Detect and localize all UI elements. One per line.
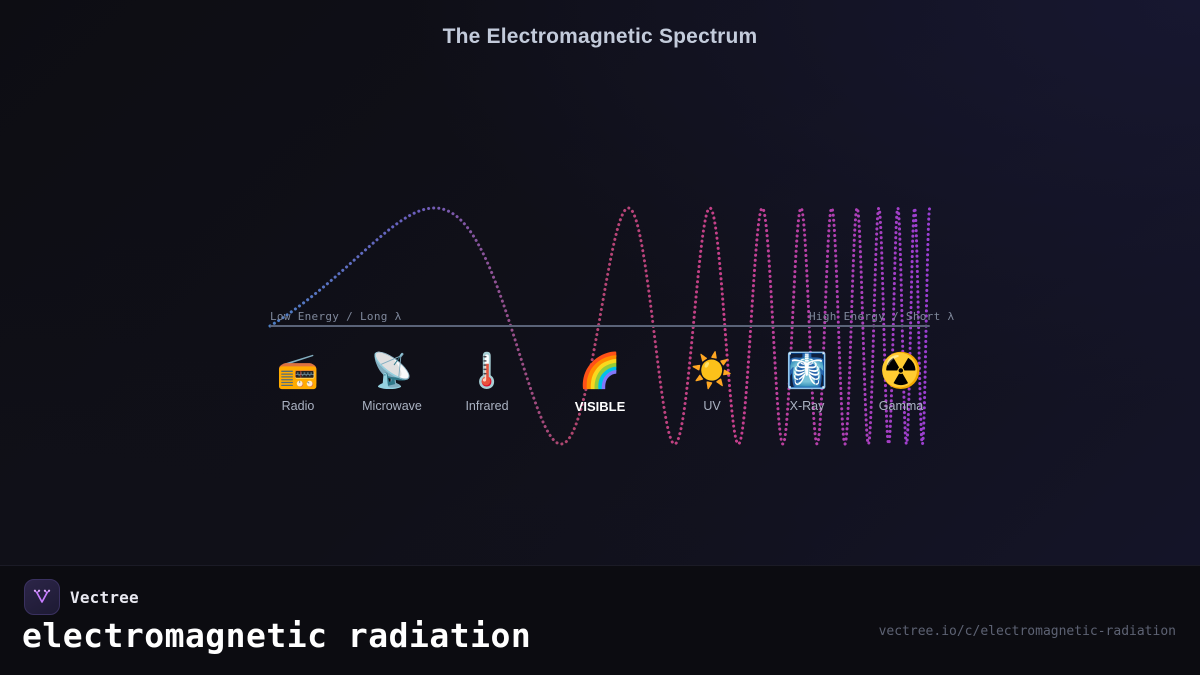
footer-title: electromagnetic radiation	[22, 616, 531, 655]
band-label: Microwave	[337, 399, 447, 413]
band-label: UV	[657, 399, 767, 413]
band-label: VISIBLE	[545, 399, 655, 414]
rainbow-icon: 🌈	[545, 345, 655, 397]
thermometer-icon: 🌡️	[432, 345, 542, 397]
sun-icon: ☀️	[657, 345, 767, 397]
footer-url: vectree.io/c/electromagnetic-radiation	[879, 624, 1176, 639]
band-gamma: ☢️Gamma	[846, 345, 956, 413]
footer-bar: Vectree electromagnetic radiation	[0, 565, 1200, 675]
band-microwave: 📡Microwave	[337, 345, 447, 413]
band-uv: ☀️UV	[657, 345, 767, 413]
band-label: Gamma	[846, 399, 956, 413]
brand: Vectree	[24, 579, 139, 615]
satellite-dish-icon: 📡	[337, 345, 447, 397]
radioactive-icon: ☢️	[846, 345, 956, 397]
band-label: Infrared	[432, 399, 542, 413]
band-list: 📻Radio📡Microwave🌡️Infrared🌈VISIBLE☀️UV🩻X…	[0, 0, 1200, 540]
spectrum-diagram: Low Energy / Long λ High Energy / Short …	[0, 0, 1200, 540]
spectrum-infographic: The Electromagnetic Spectrum Low Energy …	[0, 0, 1200, 675]
band-infrared: 🌡️Infrared	[432, 345, 542, 413]
vectree-logo-icon	[24, 579, 60, 615]
brand-name: Vectree	[70, 588, 139, 607]
band-visible: 🌈VISIBLE	[545, 345, 655, 414]
